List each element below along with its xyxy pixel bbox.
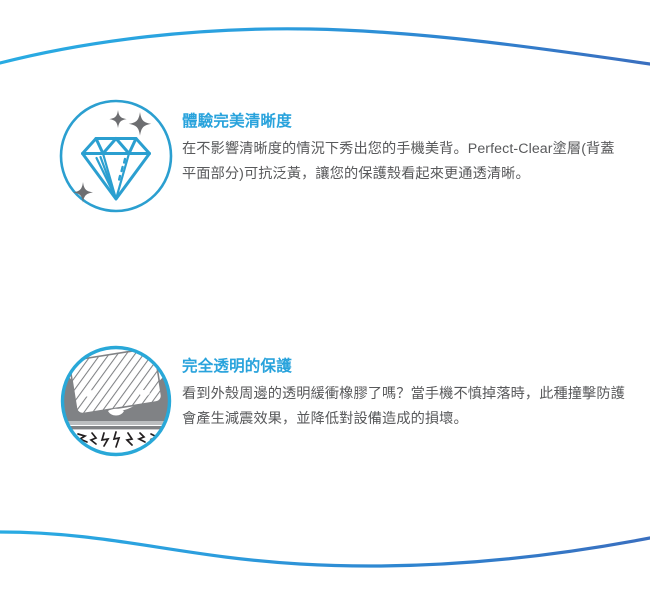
diamond-icon: [56, 96, 176, 216]
feature-body-clarity: 在不影響清晰度的情況下秀出您的手機美背。Perfect-Clear塗層(背蓋平面…: [182, 137, 626, 187]
feature-text-shock: 完全透明的保護 看到外殼周邊的透明緩衝橡膠了嗎？當手機不慎掉落時，此種撞擊防護會…: [182, 341, 626, 432]
ground-line: [56, 426, 176, 429]
feature-heading-shock: 完全透明的保護: [182, 357, 626, 377]
feature-body-shock: 看到外殼周邊的透明緩衝橡膠了嗎？當手機不慎掉落時，此種撞擊防護會產生減震效果，並…: [182, 382, 626, 432]
top-wave-divider: [0, 0, 650, 100]
shock-absorption-icon: [56, 341, 176, 461]
feature-heading-clarity: 體驗完美清晰度: [182, 112, 626, 132]
feature-infographic-page: 體驗完美清晰度 在不影響清晰度的情況下秀出您的手機美背。Perfect-Clea…: [0, 0, 650, 600]
feature-text-clarity: 體驗完美清晰度 在不影響清晰度的情況下秀出您的手機美背。Perfect-Clea…: [182, 96, 626, 187]
feature-item-clarity: 體驗完美清晰度 在不影響清晰度的情況下秀出您的手機美背。Perfect-Clea…: [0, 96, 650, 216]
bottom-wave-divider: [0, 505, 650, 600]
feature-item-shock: 完全透明的保護 看到外殼周邊的透明緩衝橡膠了嗎？當手機不慎掉落時，此種撞擊防護會…: [0, 341, 650, 461]
